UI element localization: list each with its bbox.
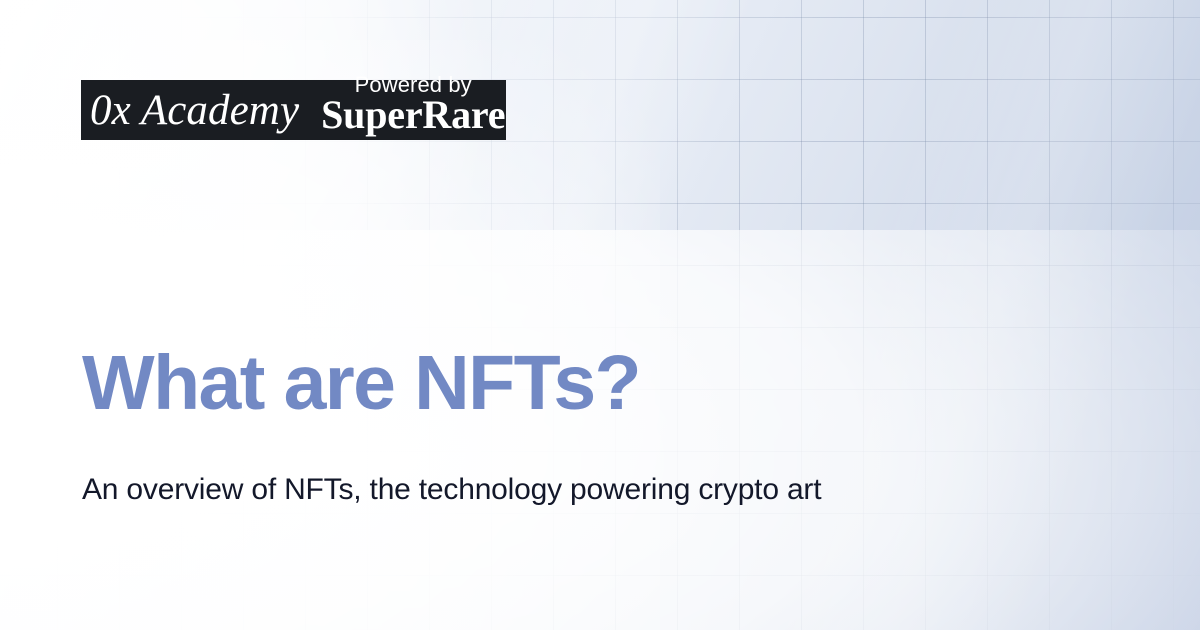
superrare-wordmark: SuperRare (321, 96, 505, 134)
page-subtitle: An overview of NFTs, the technology powe… (82, 468, 872, 511)
card-content: 0x Academy Powered by SuperRare What are… (0, 0, 1200, 630)
social-card: 0x Academy Powered by SuperRare What are… (0, 0, 1200, 630)
page-title: What are NFTs? (82, 340, 640, 426)
brand-logo-lockup[interactable]: 0x Academy Powered by SuperRare (81, 80, 506, 140)
powered-by-block: Powered by SuperRare (321, 73, 506, 133)
academy-wordmark: 0x Academy (90, 80, 321, 140)
